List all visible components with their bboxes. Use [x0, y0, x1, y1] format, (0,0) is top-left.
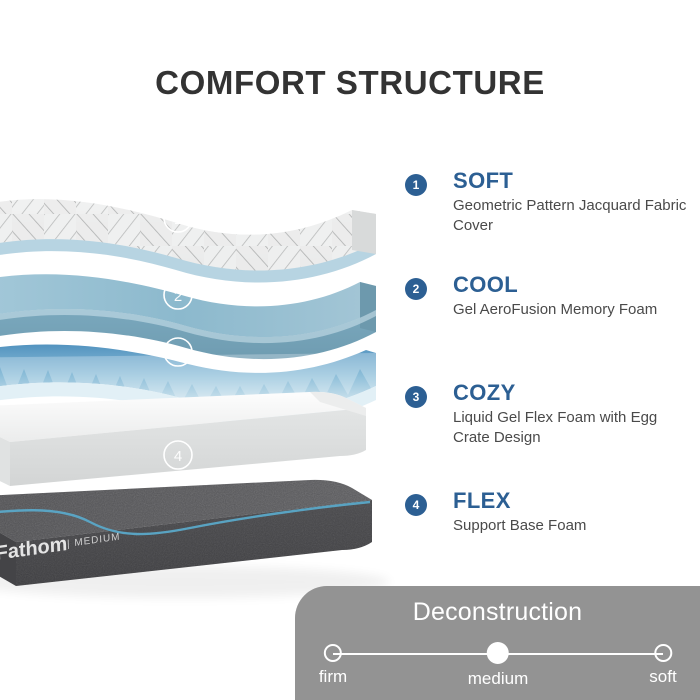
slider-dot-medium[interactable]: [487, 642, 509, 664]
mattress-layer-illustration: Fathom | MEDIUM 1 2 3 4: [0, 150, 400, 620]
slider-stop-medium[interactable]: medium: [468, 644, 528, 689]
legend-desc-cozy: Liquid Gel Flex Foam with Egg Crate Desi…: [453, 408, 690, 448]
legend-title-soft: SOFT: [453, 168, 690, 194]
page-title: COMFORT STRUCTURE: [0, 64, 700, 102]
layer-5-charcoal-base: Fathom | MEDIUM: [0, 480, 390, 598]
deconstruction-heading: Deconstruction: [295, 598, 700, 627]
legend-badge-1: 1: [405, 174, 427, 196]
slider-label-soft: soft: [649, 667, 676, 687]
slider-stop-firm[interactable]: firm: [319, 644, 347, 687]
firmness-slider[interactable]: firm medium soft: [323, 644, 673, 694]
legend-title-flex: FLEX: [453, 488, 690, 514]
legend-desc-soft: Geometric Pattern Jacquard Fabric Cover: [453, 196, 690, 236]
illustration-marker-2: 2: [174, 288, 182, 305]
legend-title-cozy: COZY: [453, 380, 690, 406]
comfort-layer-legend: 1 SOFT Geometric Pattern Jacquard Fabric…: [405, 168, 690, 570]
legend-title-cool: COOL: [453, 272, 690, 298]
slider-dot-firm[interactable]: [324, 644, 342, 662]
legend-item-flex: 4 FLEX Support Base Foam: [405, 488, 690, 544]
legend-badge-4: 4: [405, 494, 427, 516]
legend-desc-flex: Support Base Foam: [453, 516, 690, 536]
deconstruction-panel: Deconstruction firm medium soft: [295, 586, 700, 700]
legend-desc-cool: Gel AeroFusion Memory Foam: [453, 300, 690, 320]
legend-badge-2: 2: [405, 278, 427, 300]
illustration-marker-1: 1: [174, 211, 182, 228]
layer-4-support-base-foam: [0, 392, 366, 486]
legend-item-cozy: 3 COZY Liquid Gel Flex Foam with Egg Cra…: [405, 380, 690, 462]
layer-1-fabric-cover: [0, 199, 376, 282]
slider-label-firm: firm: [319, 667, 347, 687]
slider-stop-soft[interactable]: soft: [649, 644, 676, 687]
legend-item-soft: 1 SOFT Geometric Pattern Jacquard Fabric…: [405, 168, 690, 246]
legend-item-cool: 2 COOL Gel AeroFusion Memory Foam: [405, 272, 690, 354]
slider-dot-soft[interactable]: [654, 644, 672, 662]
illustration-marker-4: 4: [174, 448, 182, 465]
slider-label-medium: medium: [468, 669, 528, 689]
illustration-marker-3: 3: [174, 345, 182, 362]
legend-badge-3: 3: [405, 386, 427, 408]
